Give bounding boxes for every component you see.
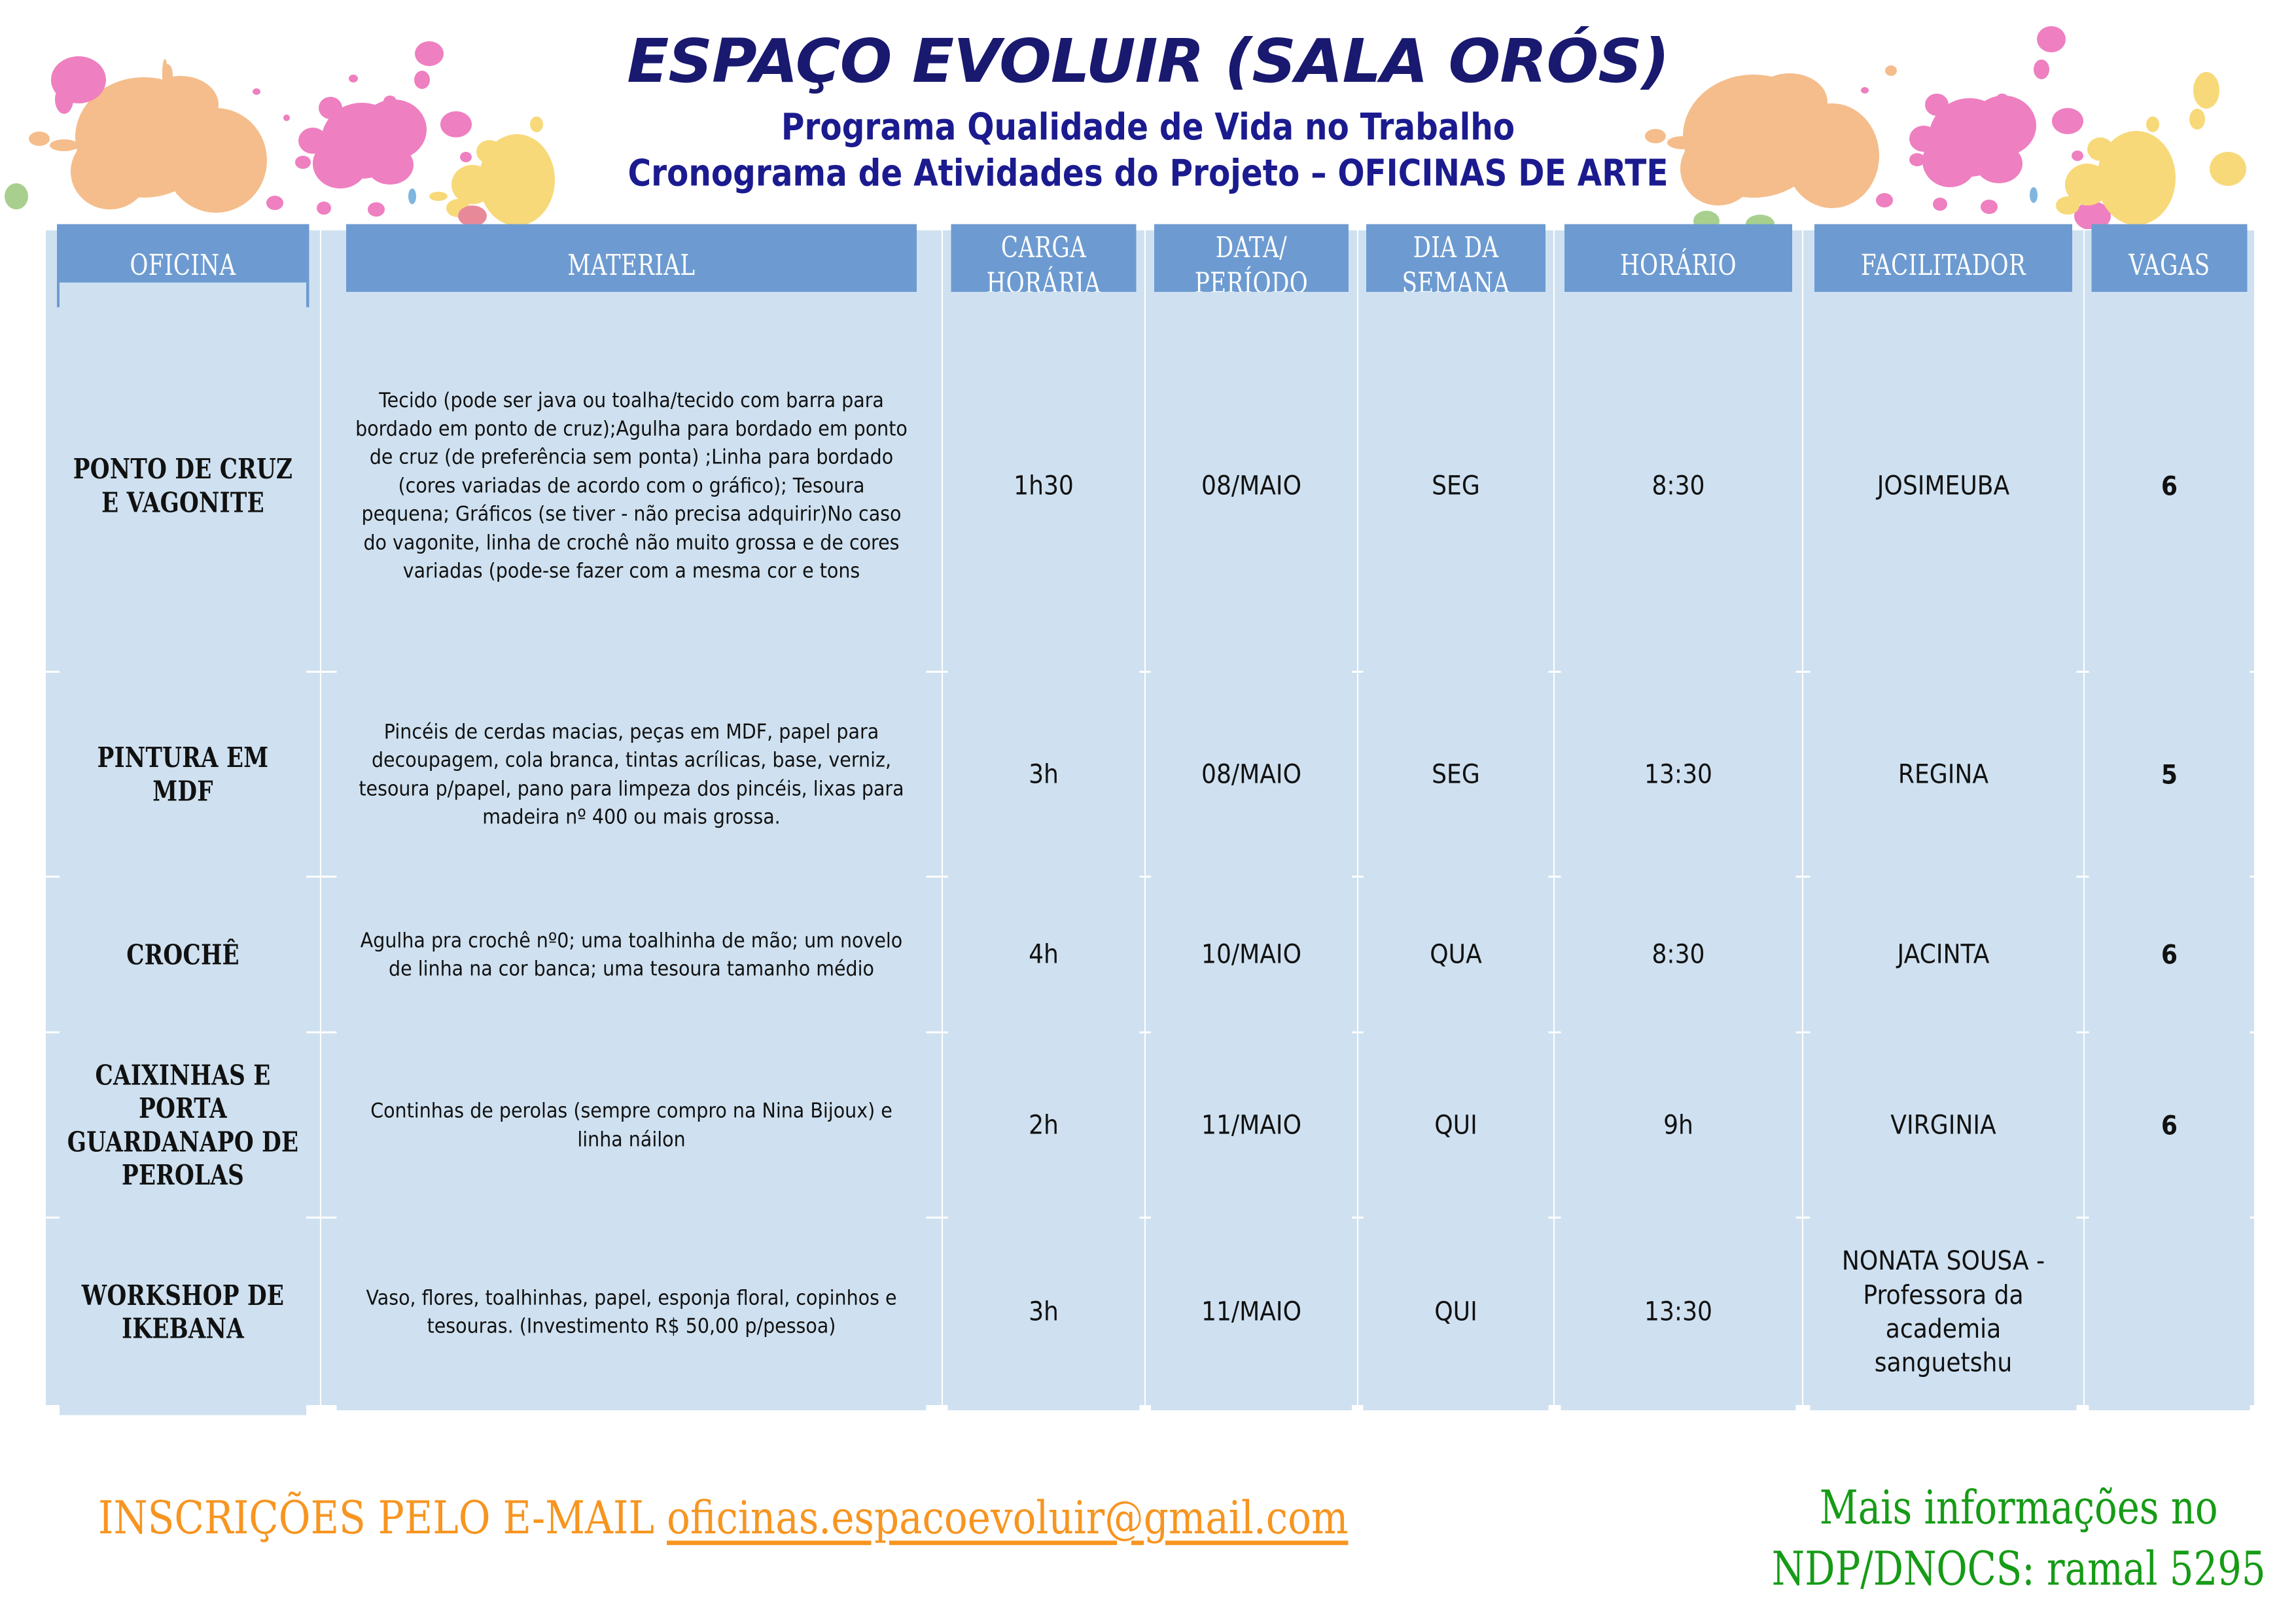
cell-material: Continhas de perolas (sempre compro na N… (336, 1027, 927, 1222)
poster-footer: INSCRIÇÕES PELO E-MAIL oficinas.espacoev… (0, 1472, 2296, 1623)
cell-dia-semana: QUI (1363, 1213, 1549, 1410)
poster-subtitle-schedule: Cronograma de Atividades do Projeto – OF… (35, 143, 2262, 196)
table-row: PONTO DE CRUZ E VAGONITE Tecido (pode se… (46, 301, 2254, 672)
column-header-oficina-label: OFICINA (130, 249, 236, 282)
inscricoes-line: INSCRIÇÕES PELO E-MAIL oficinas.espacoev… (98, 1491, 1348, 1544)
cell-facilitador: REGINA (1810, 667, 2077, 882)
cell-dia-semana: SEG (1363, 292, 1549, 681)
schedule-table-container: OFICINA MATERIAL CARGAHORÁRIA DATA/PERÍO… (46, 230, 2254, 1405)
more-info-block: Mais informações no NDP/DNOCS: ramal 529… (1772, 1478, 2266, 1599)
cell-data-periodo: 11/MAIO (1150, 1027, 1352, 1222)
schedule-table: OFICINA MATERIAL CARGAHORÁRIA DATA/PERÍO… (46, 230, 2254, 1405)
cell-oficina: PINTURA EM MDF (60, 662, 307, 887)
cell-carga-horaria: 3h (947, 667, 1140, 882)
cell-data-periodo: 08/MAIO (1150, 292, 1352, 681)
cell-data-periodo: 11/MAIO (1150, 1213, 1352, 1410)
table-body: PONTO DE CRUZ E VAGONITE Tecido (pode se… (46, 301, 2254, 1405)
cell-carga-horaria: 3h (947, 1213, 1140, 1410)
cell-dia-semana: QUI (1363, 1027, 1549, 1222)
column-header-horario-label: HORÁRIO (1620, 249, 1737, 282)
table-header-row: OFICINA MATERIAL CARGAHORÁRIA DATA/PERÍO… (46, 230, 2254, 301)
cell-vagas: 6 (2089, 873, 2250, 1037)
cell-vagas: 5 (2089, 667, 2250, 882)
cell-carga-horaria: 1h30 (947, 292, 1140, 681)
more-info-line-2: NDP/DNOCS: ramal 5295 (1772, 1539, 2266, 1599)
cell-dia-semana: QUA (1363, 873, 1549, 1037)
cell-material: Pincéis de cerdas macias, peças em MDF, … (336, 667, 927, 882)
column-header-dia-line1: DIA DA (1413, 231, 1499, 264)
cell-material: Agulha pra crochê nº0; uma toalhinha de … (336, 873, 927, 1037)
cell-dia-semana: SEG (1363, 667, 1549, 882)
table-row: PINTURA EM MDF Pincéis de cerdas macias,… (46, 672, 2254, 877)
page-title: ESPAÇO EVOLUIR (SALA ORÓS) (0, 0, 2296, 94)
column-header-facilitador-label: FACILITADOR (1861, 249, 2026, 282)
cell-vagas (2089, 1213, 2250, 1410)
cell-horario: 9h (1561, 1027, 1797, 1222)
cell-vagas: 6 (2089, 1027, 2250, 1222)
contact-email-link[interactable]: oficinas.espacoevoluir@gmail.com (667, 1491, 1348, 1544)
cell-facilitador: JOSIMEUBA (1810, 292, 2077, 681)
cell-vagas: 6 (2089, 292, 2250, 681)
cell-horario: 8:30 (1561, 873, 1797, 1037)
more-info-line-1: Mais informações no (1772, 1478, 2266, 1539)
cell-material: Tecido (pode ser java ou toalha/tecido c… (336, 292, 927, 681)
table-header: OFICINA MATERIAL CARGAHORÁRIA DATA/PERÍO… (46, 230, 2254, 301)
column-header-data-line1: DATA/ (1216, 231, 1287, 264)
column-header-material-label: MATERIAL (567, 249, 695, 282)
cell-oficina: WORKSHOP DE IKEBANA (60, 1208, 307, 1414)
table-row: CROCHÊ Agulha pra crochê nº0; uma toalhi… (46, 877, 2254, 1033)
poster-header: ESPAÇO EVOLUIR (SALA ORÓS) Programa Qual… (0, 0, 2296, 223)
inscricoes-label: INSCRIÇÕES PELO E-MAIL (98, 1491, 667, 1544)
cell-horario: 13:30 (1561, 667, 1797, 882)
column-header-vagas-label: VAGAS (2128, 249, 2210, 282)
column-header-carga-line1: CARGA (1001, 231, 1086, 264)
cell-facilitador: VIRGINIA (1810, 1027, 2077, 1222)
cell-material: Vaso, flores, toalhinhas, papel, esponja… (336, 1213, 927, 1410)
cell-facilitador: NONATA SOUSA - Professora da academia sa… (1810, 1213, 2077, 1410)
cell-oficina: PONTO DE CRUZ E VAGONITE (60, 283, 307, 690)
cell-carga-horaria: 2h (947, 1027, 1140, 1222)
table-row: WORKSHOP DE IKEBANA Vaso, flores, toalhi… (46, 1218, 2254, 1406)
cell-carga-horaria: 4h (947, 873, 1140, 1037)
cell-horario: 13:30 (1561, 1213, 1797, 1410)
table-row: CAIXINHAS E PORTA GUARDANAPO DE PEROLAS … (46, 1033, 2254, 1218)
cell-data-periodo: 08/MAIO (1150, 667, 1352, 882)
cell-data-periodo: 10/MAIO (1150, 873, 1352, 1037)
cell-oficina: CROCHÊ (60, 869, 307, 1041)
cell-horario: 8:30 (1561, 292, 1797, 681)
poster-subtitle-program: Programa Qualidade de Vida no Trabalho (35, 90, 2262, 150)
cell-facilitador: JACINTA (1810, 873, 2077, 1037)
cell-oficina: CAIXINHAS E PORTA GUARDANAPO DE PEROLAS (60, 1023, 307, 1226)
